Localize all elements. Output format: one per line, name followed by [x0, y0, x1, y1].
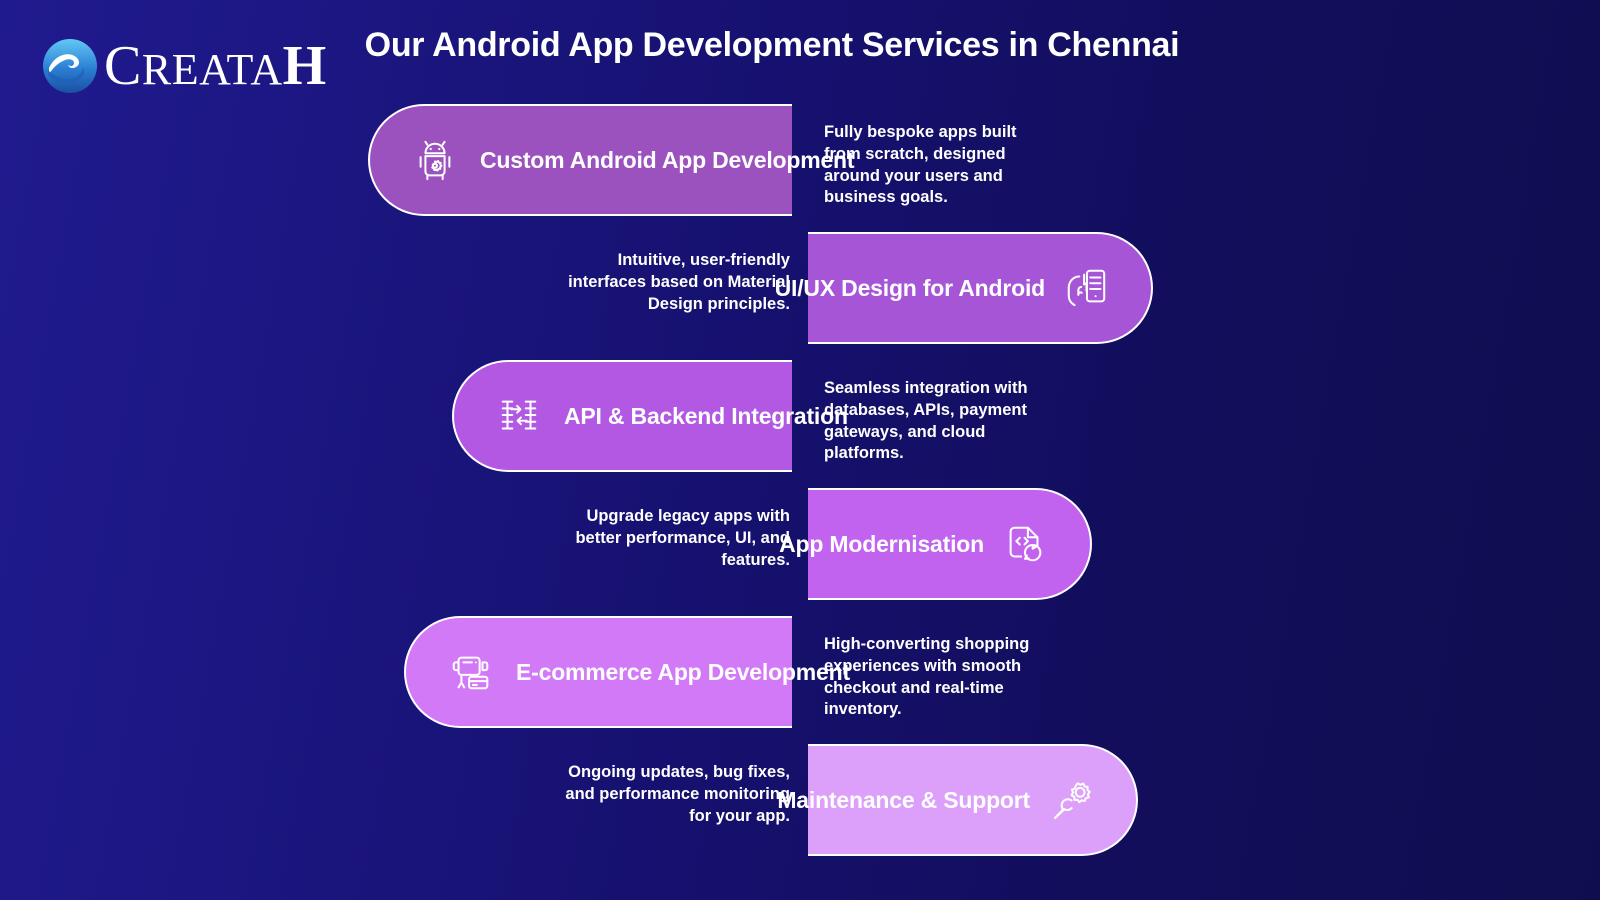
service-row: App Modernisation Upgrade legacy apps wi… [0, 480, 1600, 608]
services-list: Custom Android App DevelopmentFully besp… [0, 96, 1600, 864]
api-dataflow-icon [496, 393, 542, 439]
code-refresh-icon [1002, 521, 1048, 567]
service-card[interactable]: E-commerce App Development [404, 616, 792, 728]
service-card-label: Maintenance & Support [777, 787, 1030, 814]
wrench-gear-icon [1048, 777, 1094, 823]
service-card-label: Custom Android App Development [480, 147, 854, 174]
android-gear-icon [412, 137, 458, 183]
service-row: API & Backend IntegrationSeamless integr… [0, 352, 1600, 480]
shopping-cart-card-icon [448, 649, 494, 695]
service-card[interactable]: API & Backend Integration [452, 360, 792, 472]
service-row: UI/UX Design for Android Intuitive, user… [0, 224, 1600, 352]
service-row: E-commerce App DevelopmentHigh-convertin… [0, 608, 1600, 736]
service-card-label: App Modernisation [779, 531, 984, 558]
page-title: Our Android App Development Services in … [0, 26, 1572, 65]
service-row: Custom Android App DevelopmentFully besp… [0, 96, 1600, 224]
service-card[interactable]: Custom Android App Development [368, 104, 792, 216]
service-description: Seamless integration with databases, API… [824, 378, 1054, 465]
service-card[interactable]: UI/UX Design for Android [808, 232, 1153, 344]
service-card-label: E-commerce App Development [516, 659, 850, 686]
service-card[interactable]: App Modernisation [808, 488, 1092, 600]
page-header: CREATAH Our Android App Development Serv… [0, 0, 1600, 110]
hand-mobile-ui-icon [1063, 265, 1109, 311]
service-description: Intuitive, user-friendly interfaces base… [560, 250, 790, 315]
service-card-label: UI/UX Design for Android [775, 275, 1045, 302]
service-description: Fully bespoke apps built from scratch, d… [824, 122, 1054, 209]
service-card[interactable]: Maintenance & Support [808, 744, 1138, 856]
service-card-label: API & Backend Integration [564, 403, 848, 430]
service-row: Maintenance & Support Ongoing updates, b… [0, 736, 1600, 864]
service-description: High-converting shopping experiences wit… [824, 634, 1054, 721]
service-description: Ongoing updates, bug fixes, and performa… [560, 762, 790, 827]
service-description: Upgrade legacy apps with better performa… [560, 506, 790, 571]
